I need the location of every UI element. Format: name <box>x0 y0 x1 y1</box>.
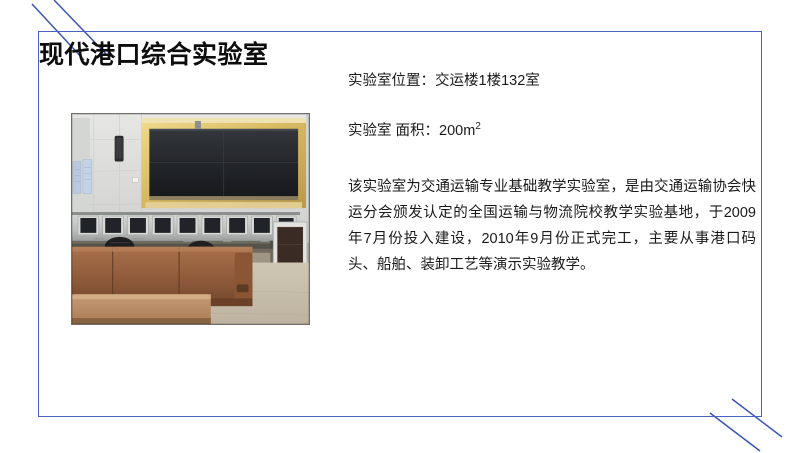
page-title: 现代港口综合实验室 <box>39 40 269 70</box>
decorative-diagonal-lines-bottom-right <box>690 385 800 453</box>
lab-area-label: 实验室 面积：200m <box>348 123 475 139</box>
slide-canvas: 现代港口综合实验室 <box>0 0 800 450</box>
details-text-column: 实验室位置：交运楼1楼132室 实验室 面积：200m2 该实验室为交通运输专业… <box>348 72 760 278</box>
lab-location-line: 实验室位置：交运楼1楼132室 <box>348 72 760 92</box>
laboratory-photo <box>71 113 310 325</box>
lab-area-unit-superscript: 2 <box>475 121 480 132</box>
lab-area-line: 实验室 面积：200m2 <box>348 122 760 142</box>
lab-description-paragraph: 该实验室为交通运输专业基础教学实验室，是由交通运输协会快运分会颁发认定的全国运输… <box>348 175 756 278</box>
laboratory-photo-image <box>72 114 309 324</box>
